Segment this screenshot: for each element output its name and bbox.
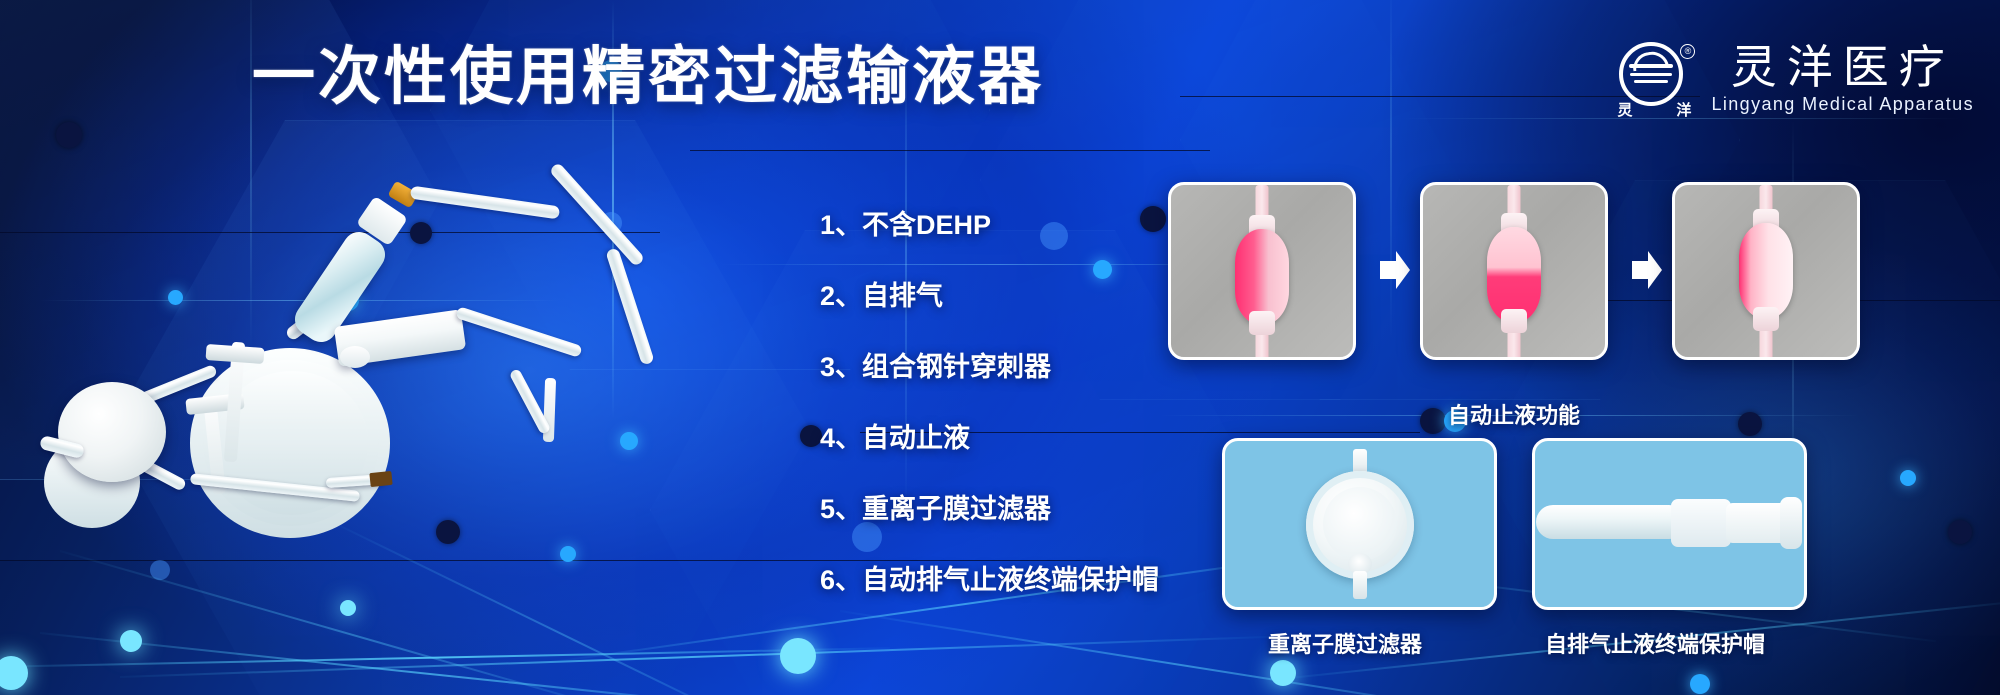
brand-name-cn: 灵洋医疗 <box>1731 43 1955 93</box>
logo-cn-right: 洋 <box>1676 99 1691 120</box>
feature-item-1: 1、不含DEHP <box>820 212 1159 239</box>
product-banner: 一次性使用精密过滤输液器 ® 灵 洋 灵洋医疗 Lingyang Medical… <box>0 0 2000 695</box>
feature-item-4: 4、自动止液 <box>820 425 1159 452</box>
logo-cn-left: 灵 <box>1617 99 1632 120</box>
feature-item-2: 2、自排气 <box>820 283 1159 310</box>
self-venting-end-cap-caption: 自排气止液终端保护帽 <box>1545 627 1765 659</box>
auto-stop-step-panel-3 <box>1672 182 1860 360</box>
right-arrow-icon <box>1378 248 1412 292</box>
banner-title: 一次性使用精密过滤输液器 <box>252 46 1044 109</box>
feature-item-6: 6、自动排气止液终端保护帽 <box>820 567 1159 594</box>
self-venting-end-cap-image <box>1536 479 1804 569</box>
feature-item-5: 5、重离子膜过滤器 <box>820 496 1159 523</box>
heavy-ion-membrane-filter-image <box>1301 449 1419 599</box>
right-arrow-icon <box>1630 248 1664 292</box>
auto-stop-step-panel-2 <box>1420 182 1608 360</box>
registered-trademark-icon: ® <box>1680 44 1695 59</box>
lingyang-circle-wave-logo-icon: ® 灵 洋 <box>1615 40 1693 118</box>
feature-item-3: 3、组合钢针穿刺器 <box>820 354 1159 381</box>
feature-list: 1、不含DEHP 2、自排气 3、组合钢针穿刺器 4、自动止液 5、重离子膜过滤… <box>820 212 1159 638</box>
heavy-ion-membrane-filter-panel <box>1222 438 1497 610</box>
brand-logo-block: ® 灵 洋 灵洋医疗 Lingyang Medical Apparatus <box>1615 40 1974 118</box>
auto-stop-function-caption: 自动止液功能 <box>1448 398 1580 430</box>
product-photo <box>40 150 640 570</box>
heavy-ion-membrane-filter-caption: 重离子膜过滤器 <box>1268 627 1422 659</box>
brand-name-en: Lingyang Medical Apparatus <box>1711 94 1974 115</box>
auto-stop-step-panel-1 <box>1168 182 1356 360</box>
self-venting-end-cap-panel <box>1532 438 1807 610</box>
